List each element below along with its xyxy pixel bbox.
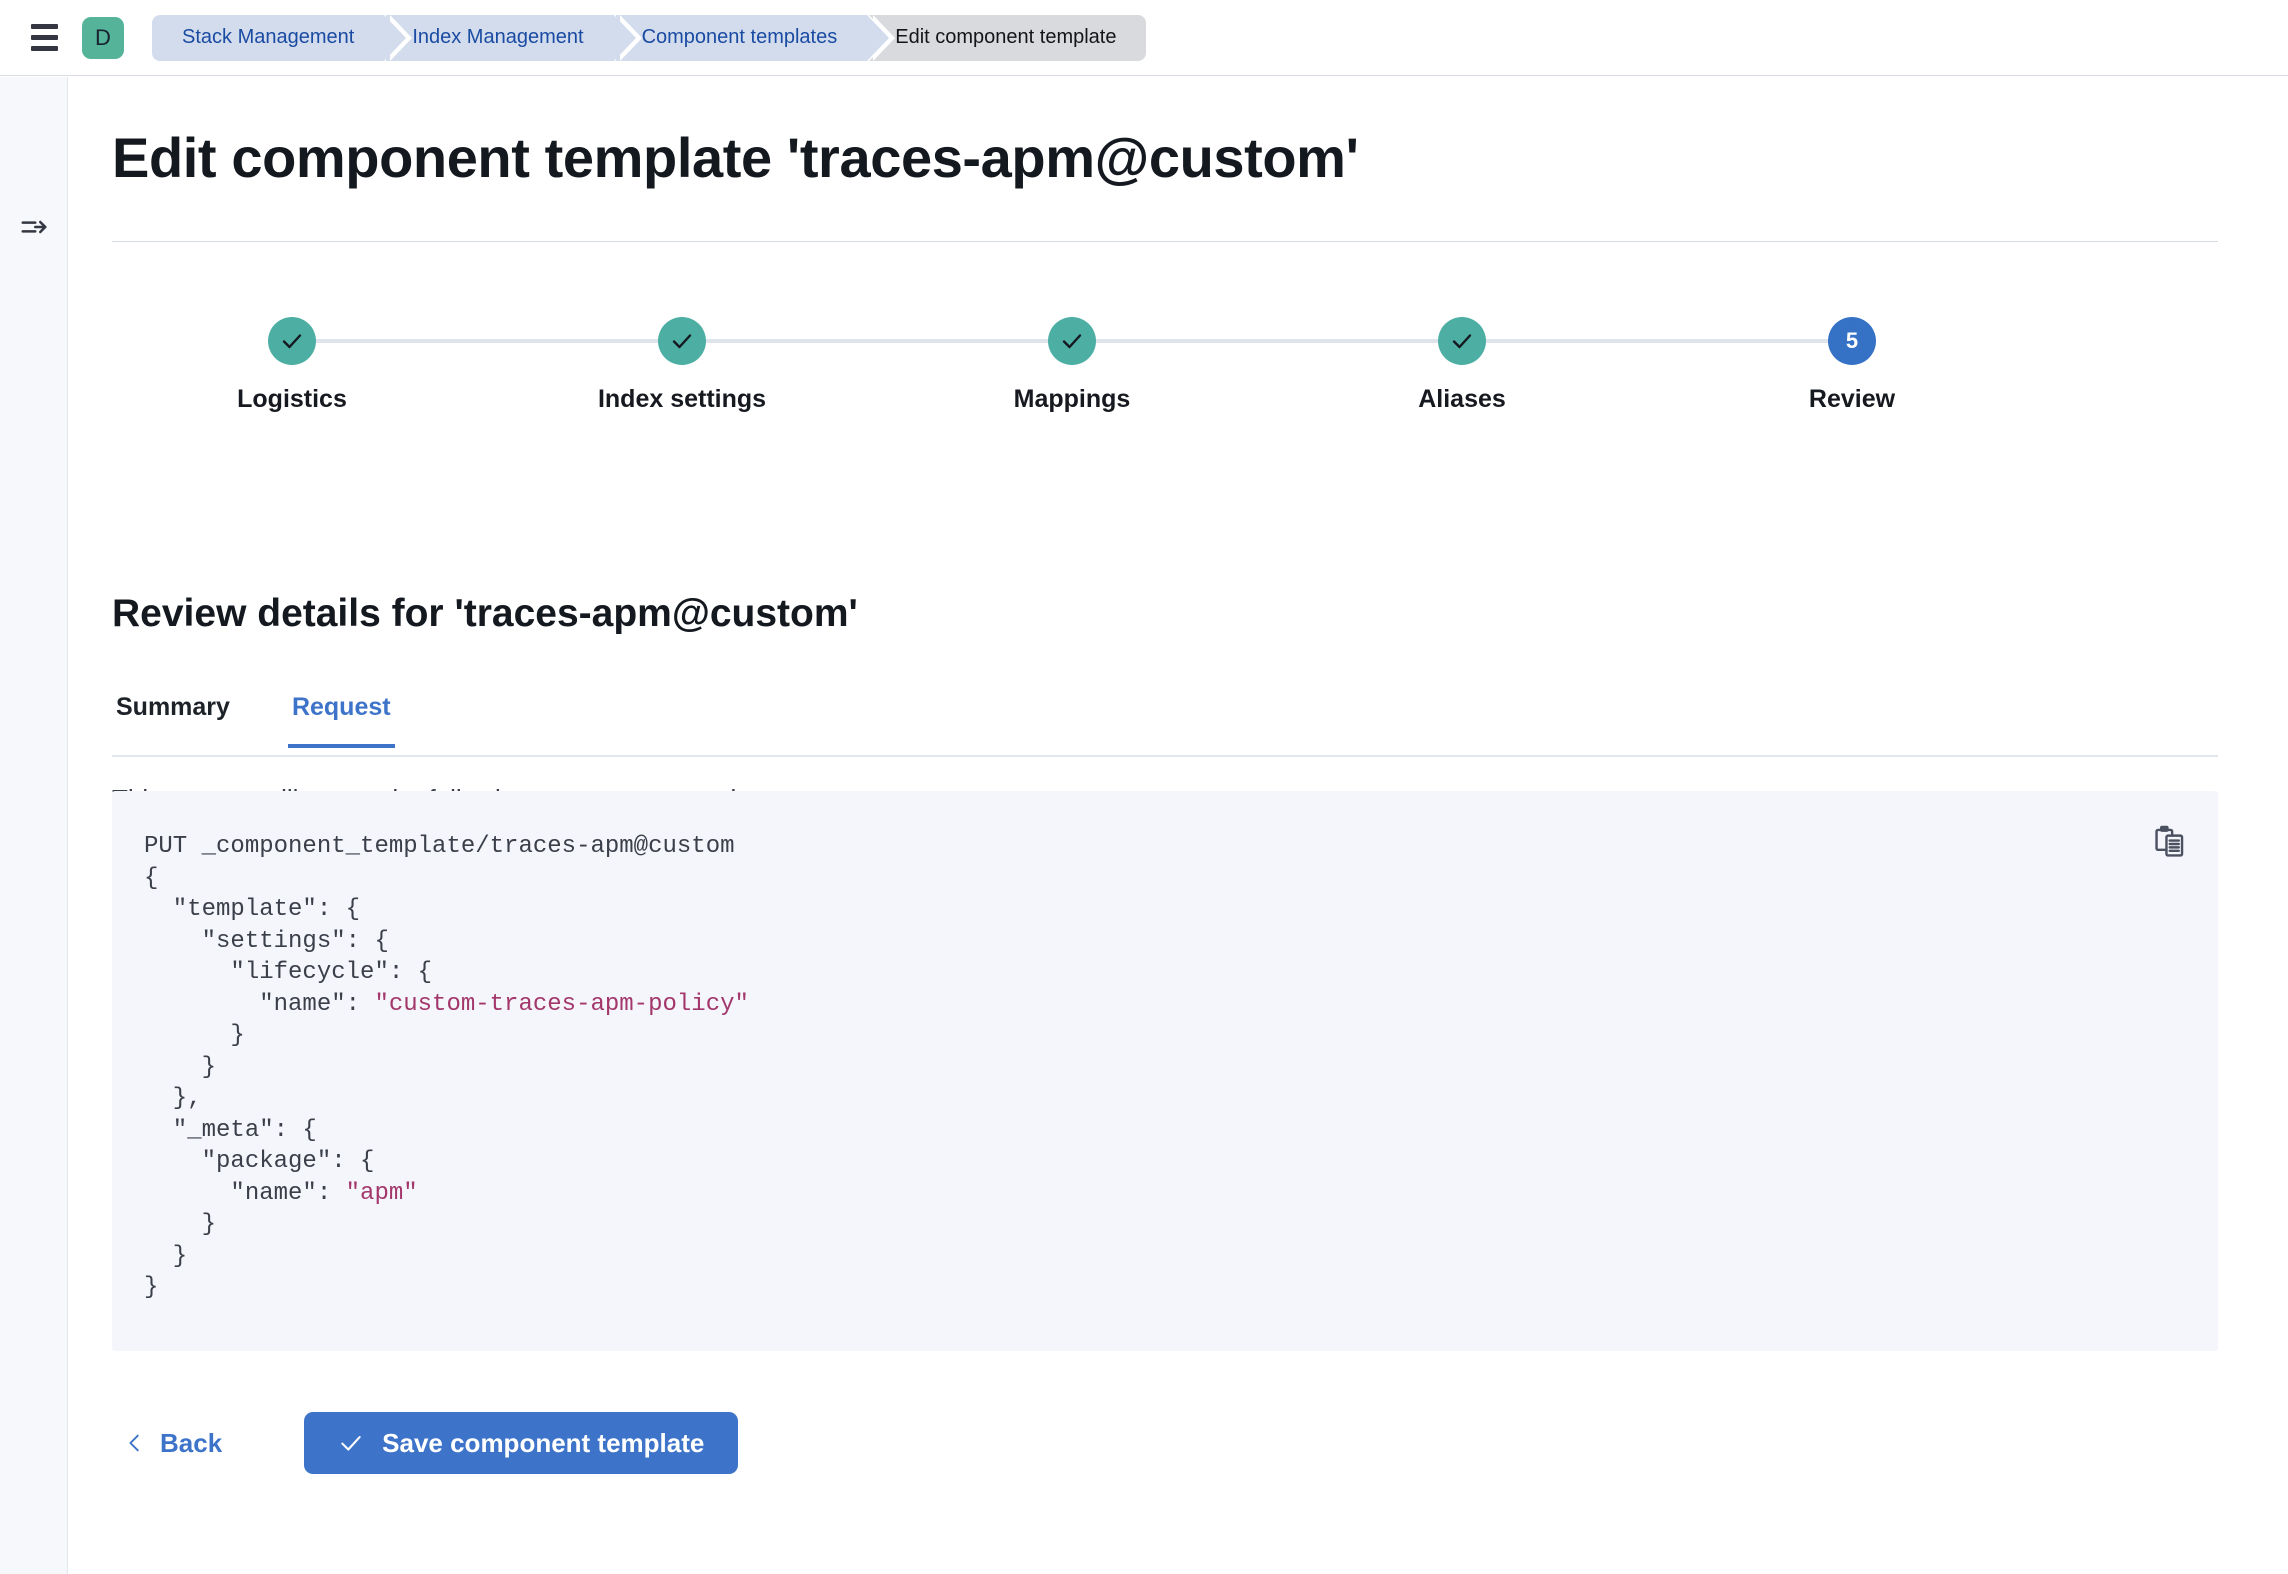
request-code-block: PUT _component_template/traces-apm@custo… [144,831,749,1304]
hamburger-menu-icon[interactable] [24,18,64,58]
step-number: 5 [1846,328,1858,354]
breadcrumb-label: Stack Management [182,26,354,49]
back-button[interactable]: Back [112,1418,234,1469]
tab-summary[interactable]: Summary [112,685,234,746]
section-title: Review details for 'traces-apm@custom' [112,592,858,636]
breadcrumb-item-component-templates[interactable]: Component templates [616,15,868,61]
wizard-stepper: Logistics Index settings Mappings Aliase… [112,317,2218,447]
main-content: Edit component template 'traces-apm@cust… [69,77,2288,1574]
stepper-step-label: Logistics [237,385,347,414]
code-text: PUT _component_template/traces-apm@custo… [144,833,749,1301]
code-panel-body: PUT _component_template/traces-apm@custo… [112,791,2218,1351]
step-marker-current: 5 [1828,317,1876,365]
step-marker-complete [1438,317,1486,365]
left-side-rail [0,77,68,1574]
stepper-step-index-settings[interactable]: Index settings [542,317,822,414]
back-button-label: Back [160,1428,222,1459]
stepper-step-label: Review [1809,385,1895,414]
breadcrumb: Stack Management Index Management Compon… [152,15,1148,61]
breadcrumb-label: Component templates [642,26,838,49]
title-divider [112,241,2218,242]
step-marker-complete [1048,317,1096,365]
stepper-step-label: Aliases [1418,385,1506,414]
hamburger-bar [31,24,58,29]
tab-label: Summary [116,693,230,721]
copy-clipboard-icon[interactable] [2146,818,2194,866]
breadcrumb-item-edit-component-template: Edit component template [869,15,1146,61]
step-marker-complete [658,317,706,365]
step-marker-complete [268,317,316,365]
stepper-step-label: Mappings [1014,385,1131,414]
stepper-step-label: Index settings [598,385,766,414]
stepper-step-aliases[interactable]: Aliases [1322,317,1602,414]
wizard-footer: Back Save component template [112,1412,738,1474]
request-code-panel: PUT _component_template/traces-apm@custo… [112,791,2218,1351]
stepper-step-logistics[interactable]: Logistics [152,317,432,414]
breadcrumb-item-stack-management[interactable]: Stack Management [152,15,384,61]
review-tabs: Summary Request [112,685,2218,757]
breadcrumb-label: Index Management [412,26,583,49]
hamburger-bar [31,35,58,40]
check-icon [338,1430,364,1456]
save-button-label: Save component template [382,1428,704,1459]
chevron-left-icon [124,1432,146,1454]
stepper-step-review[interactable]: 5 Review [1712,317,1992,414]
hamburger-bar [31,46,58,51]
tab-label: Request [292,693,391,721]
save-component-template-button[interactable]: Save component template [304,1412,738,1474]
breadcrumb-label: Edit component template [895,26,1116,49]
top-navigation-bar: D Stack Management Index Management Comp… [0,0,2288,76]
breadcrumb-item-index-management[interactable]: Index Management [386,15,613,61]
tab-request[interactable]: Request [288,685,395,746]
stepper-step-mappings[interactable]: Mappings [932,317,1212,414]
avatar[interactable]: D [82,17,124,59]
expand-panel-arrow-icon[interactable] [14,207,54,247]
page-title: Edit component template 'traces-apm@cust… [112,125,1359,190]
avatar-initial: D [95,25,111,51]
